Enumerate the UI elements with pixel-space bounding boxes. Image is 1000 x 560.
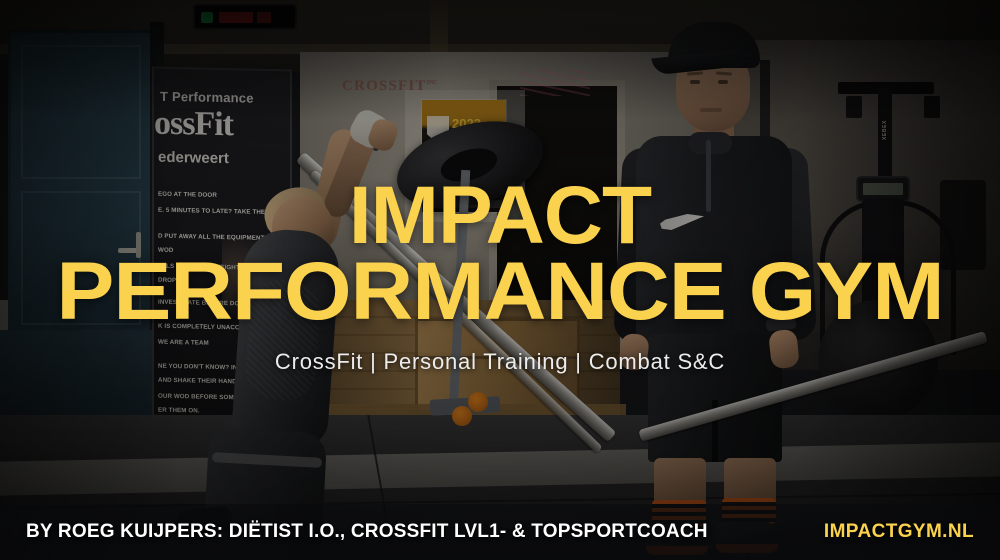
credit-text: BY ROEG KUIJPERS: DIËTIST I.O., CROSSFIT… [26,521,708,543]
footer-bar: BY ROEG KUIJPERS: DIËTIST I.O., CROSSFIT… [0,504,1000,560]
website-link[interactable]: IMPACTGYM.NL [824,521,974,543]
subtitle: CrossFit | Personal Training | Combat S&… [0,349,1000,375]
promo-banner: CROSSFITINC 2023 ARENA EVENTS AMSTERDAM … [0,0,1000,560]
title-line-1: IMPACT [0,178,1000,254]
hero-text-block: IMPACT PERFORMANCE GYM CrossFit | Person… [0,178,1000,375]
page-title: IMPACT PERFORMANCE GYM [0,178,1000,331]
title-line-2: PERFORMANCE GYM [0,254,1000,330]
